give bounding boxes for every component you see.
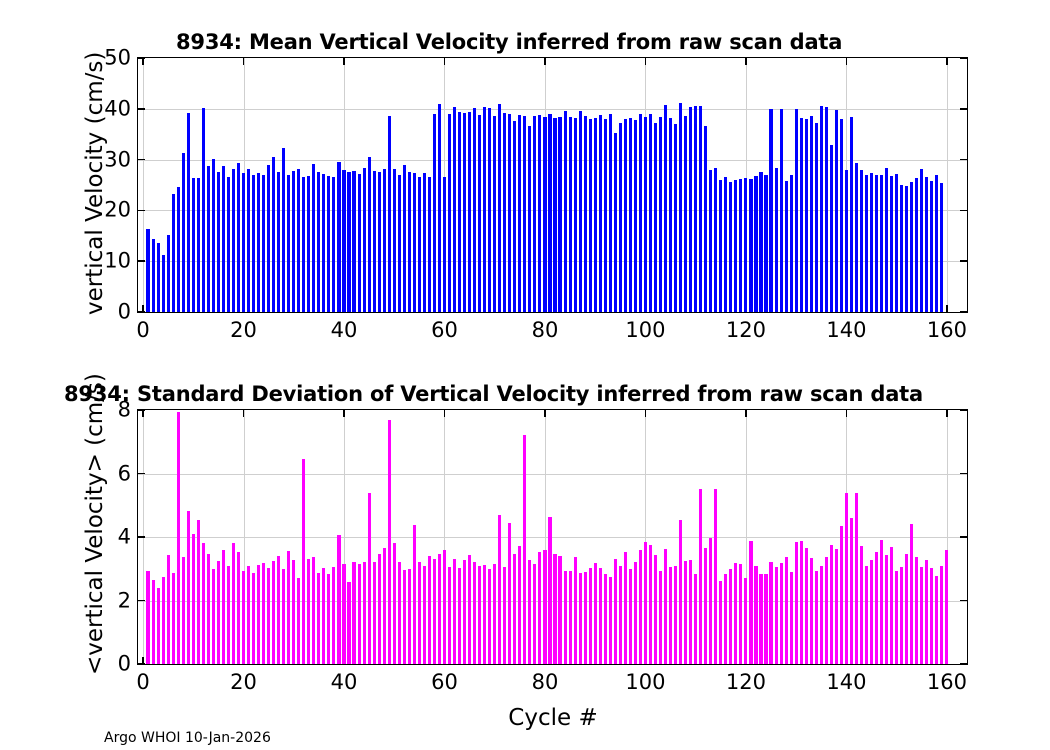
- bar: [267, 165, 270, 312]
- bar: [664, 105, 667, 312]
- y-tick-label: 2: [118, 590, 131, 611]
- bar: [679, 103, 682, 312]
- y-tick-label: 20: [104, 200, 131, 221]
- bar: [433, 559, 436, 664]
- bar: [609, 577, 612, 664]
- bar: [709, 538, 712, 664]
- bar: [870, 560, 873, 664]
- bar: [925, 177, 928, 312]
- bar: [478, 115, 481, 312]
- bar: [709, 170, 712, 312]
- bar: [307, 176, 310, 312]
- bar: [895, 174, 898, 312]
- bar: [478, 566, 481, 664]
- bar: [724, 177, 727, 312]
- bar: [734, 180, 737, 312]
- bar: [222, 550, 225, 664]
- bar: [659, 571, 662, 664]
- bar: [840, 119, 843, 312]
- bar: [749, 541, 752, 664]
- x-tick-label: 60: [431, 672, 458, 693]
- bar: [498, 104, 501, 312]
- bar: [543, 117, 546, 312]
- bar: [172, 573, 175, 664]
- bar: [669, 118, 672, 312]
- bar: [548, 114, 551, 312]
- bar: [639, 114, 642, 312]
- bar: [694, 574, 697, 664]
- bar: [639, 550, 642, 664]
- bar: [805, 119, 808, 312]
- bar: [393, 543, 396, 664]
- bar: [433, 114, 436, 312]
- bar: [835, 549, 838, 664]
- bar: [242, 571, 245, 664]
- bar: [729, 182, 732, 312]
- bar: [830, 545, 833, 664]
- x-tick-label: 60: [431, 320, 458, 341]
- bar: [579, 573, 582, 664]
- bar: [759, 172, 762, 312]
- bar: [759, 574, 762, 664]
- top-plot-area: 01020304050020406080100120140160: [137, 57, 968, 313]
- bar: [393, 169, 396, 312]
- x-tick-label: 20: [230, 320, 257, 341]
- bar: [830, 145, 833, 312]
- bar: [222, 166, 225, 312]
- bar: [167, 555, 170, 664]
- bar: [699, 106, 702, 312]
- bar: [403, 570, 406, 664]
- bar: [714, 168, 717, 312]
- bar: [679, 520, 682, 664]
- bar: [538, 115, 541, 312]
- bar: [146, 571, 149, 664]
- bar: [925, 560, 928, 664]
- bar: [202, 108, 205, 312]
- bar: [302, 177, 305, 312]
- bar: [624, 552, 627, 664]
- bar: [202, 543, 205, 664]
- bar: [146, 229, 149, 312]
- x-tick-label: 80: [532, 320, 559, 341]
- bar: [659, 117, 662, 312]
- bar: [272, 157, 275, 312]
- bar: [413, 525, 416, 664]
- bar: [800, 541, 803, 664]
- bar: [453, 107, 456, 312]
- bar: [905, 186, 908, 312]
- bar: [257, 565, 260, 664]
- bar: [865, 566, 868, 664]
- bar: [820, 106, 823, 312]
- top-bar-series: [138, 58, 967, 312]
- bar: [368, 493, 371, 664]
- bar: [850, 518, 853, 664]
- x-axis-label: Cycle #: [508, 707, 597, 730]
- bar: [538, 552, 541, 664]
- bar: [900, 567, 903, 664]
- bar: [930, 568, 933, 664]
- bar: [644, 117, 647, 312]
- bar: [614, 559, 617, 664]
- bar: [157, 243, 160, 312]
- bar: [157, 588, 160, 664]
- bar: [493, 564, 496, 664]
- bar: [488, 569, 491, 664]
- bar: [513, 121, 516, 312]
- bar: [689, 107, 692, 312]
- figure-footer: Argo WHOI 10-Jan-2026: [104, 731, 271, 745]
- y-tick-label: 4: [118, 527, 131, 548]
- bar: [443, 550, 446, 664]
- bar: [182, 153, 185, 313]
- bar: [242, 173, 245, 312]
- bar: [518, 115, 521, 312]
- bar: [463, 113, 466, 312]
- bar: [277, 556, 280, 664]
- bar: [654, 123, 657, 312]
- bar: [674, 566, 677, 664]
- bar: [162, 255, 165, 312]
- y-tick-label: 0: [118, 302, 131, 323]
- bar: [744, 178, 747, 312]
- bar: [629, 118, 632, 312]
- bar: [850, 117, 853, 312]
- bar: [232, 543, 235, 664]
- bar: [895, 571, 898, 664]
- bar: [704, 126, 707, 312]
- bar: [438, 104, 441, 312]
- bar: [589, 568, 592, 664]
- bar: [337, 162, 340, 312]
- bar: [533, 564, 536, 664]
- bar: [739, 179, 742, 312]
- bar: [594, 118, 597, 312]
- bar: [860, 170, 863, 312]
- bar: [292, 560, 295, 664]
- bar: [684, 116, 687, 312]
- bar: [754, 176, 757, 312]
- bar: [363, 562, 366, 664]
- bar: [237, 163, 240, 312]
- bar: [237, 552, 240, 664]
- bar: [352, 562, 355, 664]
- bar: [624, 119, 627, 312]
- bottom-bar-series: [138, 410, 967, 664]
- bar: [734, 563, 737, 664]
- bar: [398, 562, 401, 664]
- x-tick-label: 120: [726, 672, 766, 693]
- bar: [252, 175, 255, 312]
- bottom-chart-title: 8934: Standard Deviation of Vertical Vel…: [64, 384, 923, 405]
- bar: [337, 535, 340, 664]
- bar: [192, 534, 195, 664]
- bar: [739, 564, 742, 664]
- bar: [358, 564, 361, 664]
- bar: [790, 175, 793, 312]
- bar: [855, 163, 858, 312]
- bar: [378, 172, 381, 312]
- bar: [564, 571, 567, 664]
- bar: [654, 555, 657, 664]
- bar: [604, 119, 607, 312]
- bar: [503, 567, 506, 664]
- bar: [297, 578, 300, 664]
- bar: [523, 116, 526, 312]
- bar: [373, 171, 376, 312]
- bar: [332, 567, 335, 664]
- bar: [463, 560, 466, 664]
- bar: [558, 117, 561, 312]
- bar: [177, 412, 180, 664]
- bar: [312, 557, 315, 664]
- x-tick-label: 160: [927, 320, 967, 341]
- bar: [644, 542, 647, 664]
- bar: [332, 177, 335, 312]
- bar: [297, 169, 300, 312]
- bar: [317, 172, 320, 312]
- bar: [383, 169, 386, 312]
- bar: [448, 567, 451, 664]
- bar: [418, 177, 421, 312]
- bar: [674, 124, 677, 312]
- bar: [438, 554, 441, 664]
- bar: [523, 435, 526, 664]
- bar: [508, 114, 511, 312]
- x-tick-label: 80: [532, 672, 559, 693]
- bar: [227, 177, 230, 312]
- bar: [845, 170, 848, 312]
- bar: [689, 560, 692, 664]
- bar: [473, 108, 476, 312]
- bar: [483, 107, 486, 312]
- bar: [619, 123, 622, 312]
- bar: [423, 566, 426, 664]
- bottom-y-axis-label: <vertical Velocity> (cm/s): [84, 373, 107, 675]
- bar: [388, 420, 391, 664]
- bar: [785, 181, 788, 312]
- bar: [860, 546, 863, 664]
- bar: [915, 557, 918, 664]
- bar: [805, 548, 808, 664]
- y-tick-label: 10: [104, 251, 131, 272]
- x-tick-label: 20: [230, 672, 257, 693]
- bar: [815, 571, 818, 664]
- x-tick-label: 100: [625, 320, 665, 341]
- bottom-plot-area: 02468020406080100120140160: [137, 409, 968, 665]
- bar: [729, 569, 732, 664]
- bar: [599, 115, 602, 312]
- bar: [528, 560, 531, 664]
- bar: [589, 119, 592, 312]
- bar: [383, 548, 386, 664]
- bar: [483, 565, 486, 664]
- bar: [453, 559, 456, 664]
- bar: [257, 173, 260, 312]
- bar: [322, 174, 325, 312]
- bar: [825, 107, 828, 312]
- bar: [558, 556, 561, 664]
- bar: [513, 554, 516, 664]
- y-tick-label: 8: [118, 400, 131, 421]
- bar: [649, 545, 652, 664]
- bar: [172, 194, 175, 312]
- bar: [775, 567, 778, 664]
- bar: [282, 569, 285, 664]
- bar: [945, 550, 948, 664]
- bar: [800, 118, 803, 312]
- figure-root: 8934: Mean Vertical Velocity inferred fr…: [0, 0, 1050, 750]
- bar: [815, 123, 818, 312]
- bar: [272, 561, 275, 664]
- bar: [528, 126, 531, 312]
- bar: [714, 489, 717, 664]
- y-tick-label: 0: [118, 654, 131, 675]
- bar: [594, 563, 597, 664]
- bar: [428, 556, 431, 664]
- bar: [448, 114, 451, 312]
- bar: [614, 133, 617, 312]
- bar: [719, 581, 722, 664]
- bar: [232, 169, 235, 312]
- y-tick-label: 30: [104, 149, 131, 170]
- bar: [855, 493, 858, 664]
- bar: [488, 108, 491, 312]
- bar: [764, 574, 767, 664]
- bar: [207, 554, 210, 664]
- bar: [835, 110, 838, 312]
- bar: [187, 511, 190, 664]
- bar: [845, 493, 848, 664]
- bar: [569, 117, 572, 312]
- bar: [282, 148, 285, 312]
- bar: [724, 574, 727, 664]
- bar: [508, 523, 511, 664]
- bar: [920, 567, 923, 664]
- bar: [599, 568, 602, 664]
- bar: [182, 557, 185, 664]
- bar: [579, 111, 582, 312]
- bar: [840, 526, 843, 664]
- bar: [890, 176, 893, 312]
- bar: [473, 562, 476, 664]
- bar: [905, 554, 908, 664]
- bar: [780, 109, 783, 312]
- bar: [398, 175, 401, 312]
- bar: [347, 172, 350, 312]
- bar: [548, 517, 551, 664]
- bar: [247, 169, 250, 312]
- bar: [629, 569, 632, 664]
- bar: [347, 582, 350, 664]
- bar: [704, 548, 707, 664]
- bar: [940, 566, 943, 664]
- bar: [322, 568, 325, 664]
- bar: [287, 175, 290, 312]
- bar: [247, 566, 250, 664]
- bar: [885, 168, 888, 312]
- y-tick-label: 6: [118, 463, 131, 484]
- bar: [754, 566, 757, 664]
- bar: [443, 177, 446, 312]
- bar: [669, 567, 672, 664]
- bar: [875, 552, 878, 664]
- bar: [197, 520, 200, 664]
- bar: [790, 572, 793, 664]
- bar: [403, 165, 406, 312]
- bar: [307, 559, 310, 664]
- bar: [785, 557, 788, 664]
- bar: [930, 181, 933, 312]
- bar: [458, 568, 461, 664]
- bar: [262, 175, 265, 312]
- bar: [875, 175, 878, 312]
- bar: [649, 114, 652, 312]
- x-tick-label: 100: [625, 672, 665, 693]
- x-tick-label: 140: [826, 672, 866, 693]
- bar: [865, 175, 868, 312]
- x-tick-label: 160: [927, 672, 967, 693]
- bar: [408, 569, 411, 664]
- bar: [493, 116, 496, 312]
- bar: [769, 109, 772, 312]
- bar: [518, 546, 521, 664]
- bar: [212, 159, 215, 312]
- bar: [870, 173, 873, 312]
- bar: [920, 169, 923, 312]
- bar: [910, 182, 913, 312]
- bar: [187, 113, 190, 312]
- x-tick-label: 0: [136, 672, 149, 693]
- top-y-axis-label: vertical Velocity (cm/s): [84, 52, 107, 315]
- bar: [609, 114, 612, 312]
- bar: [217, 561, 220, 664]
- bar: [533, 116, 536, 312]
- bar: [604, 574, 607, 664]
- top-chart-title: 8934: Mean Vertical Velocity inferred fr…: [176, 32, 842, 53]
- bar: [915, 178, 918, 312]
- bar: [342, 564, 345, 664]
- bar: [795, 542, 798, 664]
- x-tick-label: 0: [136, 320, 149, 341]
- bar: [167, 235, 170, 312]
- bar: [880, 175, 883, 312]
- bar: [468, 555, 471, 664]
- bar: [287, 551, 290, 664]
- bar: [207, 166, 210, 312]
- bar: [749, 179, 752, 312]
- bar: [553, 554, 556, 664]
- bar: [413, 173, 416, 312]
- bar: [423, 173, 426, 312]
- bar: [634, 562, 637, 664]
- bar: [252, 573, 255, 664]
- bar: [302, 459, 305, 664]
- bar: [458, 112, 461, 312]
- bar: [820, 566, 823, 664]
- bar: [317, 573, 320, 664]
- bar: [775, 168, 778, 312]
- bar: [694, 106, 697, 312]
- bar: [267, 568, 270, 664]
- bar: [227, 566, 230, 664]
- bar: [327, 176, 330, 312]
- y-tick-label: 40: [104, 98, 131, 119]
- bar: [810, 558, 813, 664]
- bar: [277, 172, 280, 312]
- bar: [885, 555, 888, 664]
